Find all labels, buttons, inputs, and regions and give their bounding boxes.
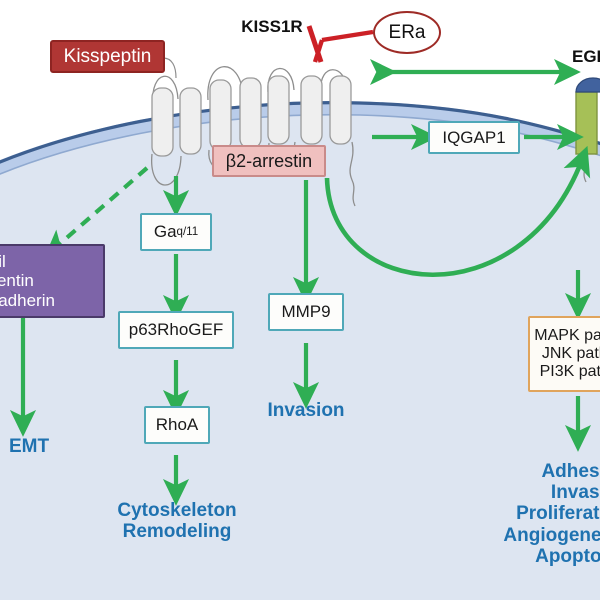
pathway-diagram-canvas: KISS1R EGFR Kisspeptin ERa β2-arrestin I… xyxy=(0,0,600,600)
outcome-cytoskeleton-remodeling: Cytoskeleton Remodeling xyxy=(106,494,248,548)
kinase-pathway-pi3k: PI3K pathway xyxy=(540,363,600,381)
p63rhogef-box[interactable]: p63RhoGEF xyxy=(118,311,234,349)
rhoa-box[interactable]: RhoA xyxy=(144,406,210,444)
outcome-cytoskeleton-line1: Cytoskeleton xyxy=(106,500,248,521)
outcome-angiogenesis: Angiogenesis xyxy=(478,525,600,546)
kisspeptin-ligand-box[interactable]: Kisspeptin xyxy=(50,40,165,73)
mmp9-box[interactable]: MMP9 xyxy=(268,293,344,331)
egfr-label: EGFR xyxy=(572,46,600,68)
gaq11-subscript: q/11 xyxy=(177,226,199,239)
beta2-arrestin-box[interactable]: β2-arrestin xyxy=(212,145,326,177)
outcome-proliferation: Proliferation xyxy=(478,503,600,524)
emt-marker-vimentin: Vimentin xyxy=(0,271,103,290)
kiss1r-label: KISS1R xyxy=(222,16,322,38)
iqgap1-box[interactable]: IQGAP1 xyxy=(428,121,520,154)
outcome-cytoskeleton-line2: Remodeling xyxy=(106,521,248,542)
kinase-pathway-jnk: JNK pathway xyxy=(542,345,600,363)
outcome-emt: EMT xyxy=(0,434,64,460)
outcome-egfr-effects: Adhesion Invasion Proliferation Angiogen… xyxy=(484,448,600,580)
outcome-apoptosis: Apoptosis xyxy=(478,546,600,567)
outcome-adhesion: Adhesion xyxy=(478,461,600,482)
emt-marker-n-cadherin: N-Cadherin xyxy=(0,291,103,310)
gaq11-main: Ga xyxy=(154,222,177,241)
emt-markers-box[interactable]: Snail Vimentin N-Cadherin xyxy=(0,244,105,318)
emt-marker-snail: Snail xyxy=(0,252,103,271)
outcome-invasion-egfr: Invasion xyxy=(478,482,600,503)
gaq11-box[interactable]: Gaq/11 xyxy=(140,213,212,251)
era-node[interactable]: ERa xyxy=(373,11,441,54)
outcome-invasion: Invasion xyxy=(256,398,356,424)
kinase-pathways-box[interactable]: MAPK pathway JNK pathway PI3K pathway xyxy=(528,316,600,392)
kinase-pathway-mapk: MAPK pathway xyxy=(534,327,600,345)
